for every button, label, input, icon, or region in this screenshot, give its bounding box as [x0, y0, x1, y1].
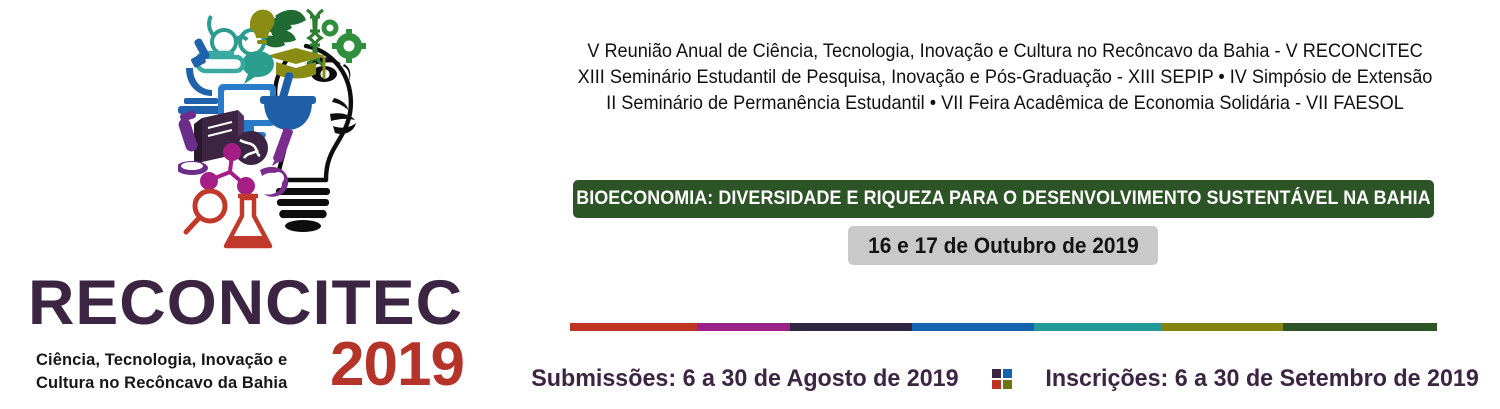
theme-banner-text: BIOECONOMIA: DIVERSIDADE E RIQUEZA PARA …	[576, 188, 1430, 210]
event-title-lines: V Reunião Anual de Ciência, Tecnologia, …	[545, 38, 1465, 116]
event-line-1: V Reunião Anual de Ciência, Tecnologia, …	[577, 38, 1433, 64]
color-rule-segment-teal	[1034, 323, 1161, 331]
wordmark-title: RECONCITEC	[28, 272, 463, 335]
theme-banner: BIOECONOMIA: DIVERSIDADE E RIQUEZA PARA …	[573, 180, 1434, 218]
brand-block: RECONCITEC 2019 Ciência, Tecnologia, Ino…	[0, 0, 545, 409]
four-squares-icon-top-right	[1003, 369, 1012, 378]
color-rule-segment-dark-purple	[790, 323, 912, 331]
content-block: V Reunião Anual de Ciência, Tecnologia, …	[545, 0, 1500, 409]
color-rule-segment-olive	[1161, 323, 1283, 331]
color-rule-segment-red	[570, 323, 697, 331]
wordmark-tagline-line1: Ciência, Tecnologia, Inovação e	[36, 352, 287, 369]
head-lightbulb-science-icons-emblem	[178, 2, 383, 250]
color-rule-segment-green	[1283, 323, 1437, 331]
event-line-3: II Seminário de Permanência Estudantil •…	[577, 90, 1433, 116]
wordmark: RECONCITEC 2019 Ciência, Tecnologia, Ino…	[28, 272, 533, 404]
four-squares-icon	[992, 369, 1012, 389]
wordmark-year: 2019	[330, 334, 464, 396]
four-squares-icon-bottom-left	[992, 380, 1001, 389]
registrations-deadline-text: Inscrições: 6 a 30 de Setembro de 2019	[1045, 365, 1478, 393]
color-rule-divider	[570, 323, 1437, 331]
event-line-2: XIII Seminário Estudantil de Pesquisa, I…	[577, 64, 1433, 90]
four-squares-icon-top-left	[992, 369, 1001, 378]
event-date-text: 16 e 17 de Outubro de 2019	[868, 233, 1139, 259]
event-date-pill: 16 e 17 de Outubro de 2019	[848, 226, 1158, 265]
deadlines-row: Submissões: 6 a 30 de Agosto de 2019 Ins…	[545, 358, 1465, 400]
color-rule-segment-blue	[912, 323, 1034, 331]
wordmark-tagline-line2: Cultura no Recôncavo da Bahia	[36, 375, 287, 392]
four-squares-icon-bottom-right	[1003, 380, 1012, 389]
color-rule-segment-magenta	[697, 323, 790, 331]
submissions-deadline-text: Submissões: 6 a 30 de Agosto de 2019	[531, 365, 958, 393]
